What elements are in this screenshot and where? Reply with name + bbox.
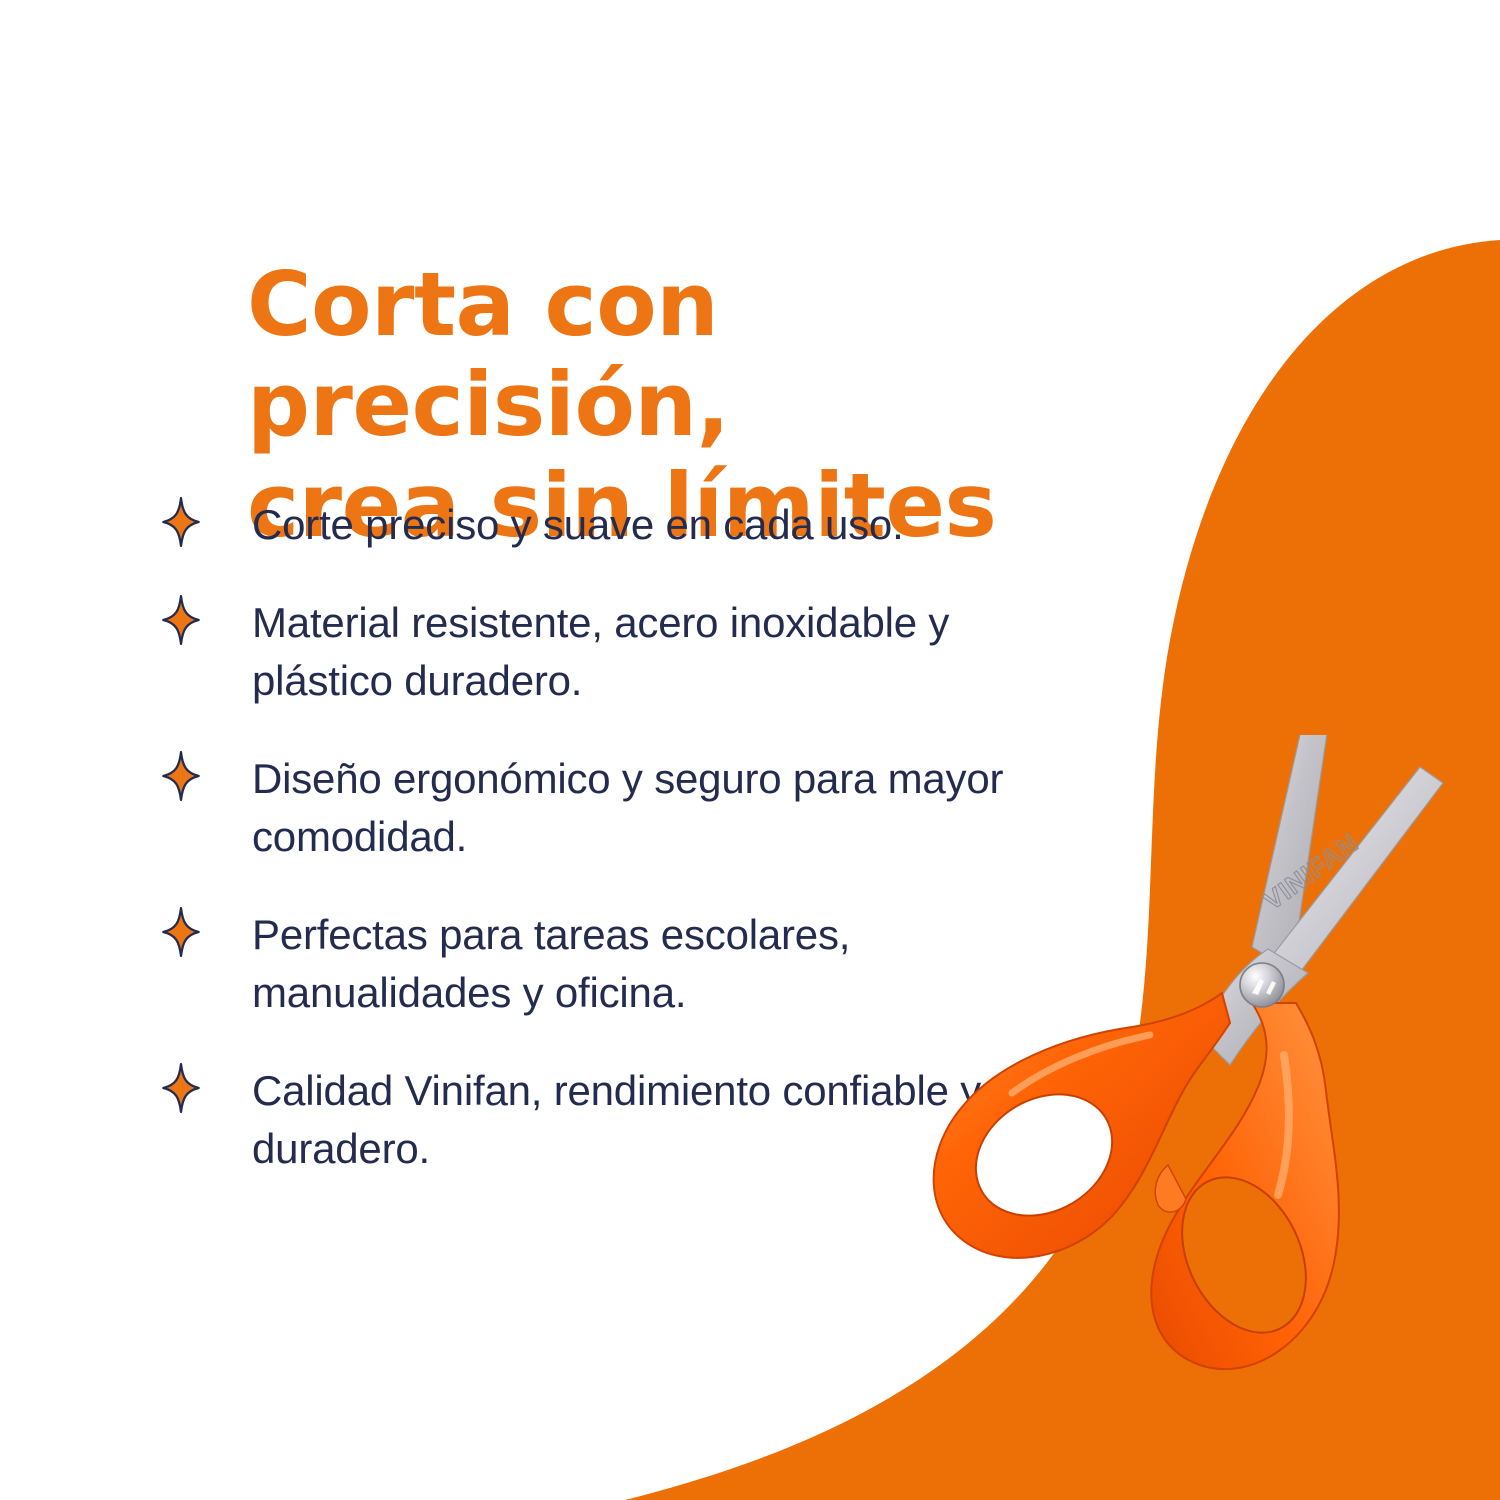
sparkle-icon bbox=[160, 750, 202, 802]
list-item-label: Diseño ergonómico y seguro para mayor co… bbox=[252, 750, 1012, 866]
list-item: Material resistente, acero inoxidable y … bbox=[160, 594, 1040, 710]
list-item-label: Calidad Vinifan, rendimiento confiable y… bbox=[252, 1062, 1012, 1178]
promo-banner: Corta con precisión, crea sin límites Co… bbox=[0, 0, 1500, 1500]
sparkle-icon bbox=[160, 496, 202, 548]
list-item-label: Corte preciso y suave en cada uso. bbox=[252, 496, 904, 554]
list-item-label: Perfectas para tareas escolares, manuali… bbox=[252, 906, 1012, 1022]
sparkle-icon bbox=[160, 1062, 202, 1114]
scissors-photo: VINIFAN bbox=[900, 735, 1460, 1375]
thumb-rest bbox=[1155, 1165, 1186, 1212]
sparkle-icon bbox=[160, 594, 202, 646]
sparkle-icon bbox=[160, 906, 202, 958]
list-item: Corte preciso y suave en cada uso. bbox=[160, 496, 1040, 554]
pivot-rivet bbox=[1240, 963, 1284, 1007]
list-item-label: Material resistente, acero inoxidable y … bbox=[252, 594, 1012, 710]
